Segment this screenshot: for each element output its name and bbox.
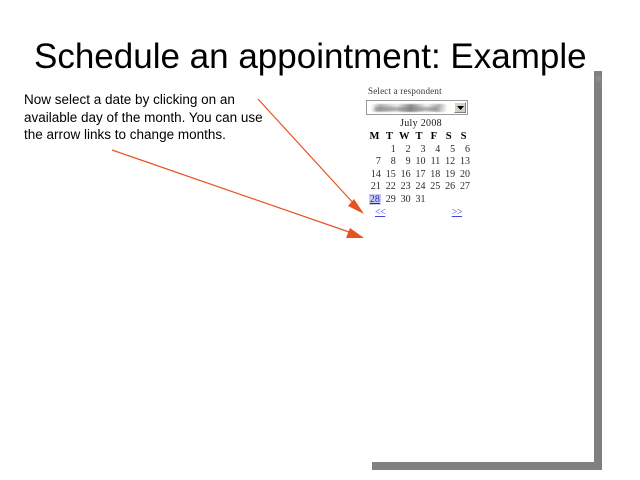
calendar-day: 7 (367, 156, 382, 169)
calendar-nav: << >> (367, 207, 471, 220)
calendar-weekday: S (441, 130, 456, 143)
calendar-day: 6 (456, 143, 471, 156)
page-title: Schedule an appointment: Example (34, 36, 614, 78)
calendar-day (456, 193, 471, 206)
calendar-weekday: S (456, 130, 471, 143)
calendar-day: 20 (456, 168, 471, 181)
respondent-select-value-blur (375, 107, 437, 111)
calendar-day: 29 (382, 193, 397, 206)
calendar-weekday: F (426, 130, 441, 143)
slide-shadow-right (594, 71, 602, 463)
calendar-day: 10 (412, 156, 427, 169)
select-respondent-label: Select a respondent (368, 86, 476, 96)
calendar-day-selected[interactable]: 28 (367, 193, 382, 206)
calendar-day (441, 193, 456, 206)
calendar-day: 22 (382, 181, 397, 194)
chevron-down-icon[interactable] (454, 102, 466, 113)
calendar-day: 15 (382, 168, 397, 181)
annotation-arrow-to-selected-day (258, 99, 364, 214)
respondent-select[interactable] (366, 100, 468, 115)
calendar-day: 16 (397, 168, 412, 181)
calendar-week-row: 7 8 9 10 11 12 13 (367, 156, 471, 169)
calendar-week-row: 28 29 30 31 (367, 193, 471, 206)
calendar-day: 26 (441, 181, 456, 194)
calendar-day: 11 (426, 156, 441, 169)
calendar-month-title: July 2008 (366, 118, 476, 129)
calendar-day (426, 193, 441, 206)
calendar-day: 2 (397, 143, 412, 156)
calendar-day: 31 (412, 193, 427, 206)
slide-canvas: Schedule an appointment: Example Now sel… (0, 0, 640, 480)
calendar-day: 1 (382, 143, 397, 156)
calendar-day: 13 (456, 156, 471, 169)
calendar-day: 27 (456, 181, 471, 194)
calendar-day: 18 (426, 168, 441, 181)
calendar-week-row: 1 2 3 4 5 6 (367, 143, 471, 156)
calendar-day: 14 (367, 168, 382, 181)
calendar-day: 3 (412, 143, 427, 156)
annotation-arrow-to-prev-link (112, 150, 364, 238)
calendar-day (367, 143, 382, 156)
slide-shadow-bottom (372, 462, 602, 470)
calendar-weekday: W (397, 130, 412, 143)
calendar-day: 12 (441, 156, 456, 169)
calendar-weekday: T (412, 130, 427, 143)
calendar-next-month-link[interactable]: >> (452, 207, 462, 218)
calendar-week-row: 21 22 23 24 25 26 27 (367, 181, 471, 194)
calendar-prev-month-link[interactable]: << (375, 207, 385, 218)
calendar-day: 4 (426, 143, 441, 156)
calendar-day: 30 (397, 193, 412, 206)
calendar-day-selected-link[interactable]: 28 (369, 194, 381, 205)
calendar-day: 24 (412, 181, 427, 194)
calendar-day: 17 (412, 168, 427, 181)
calendar-weekday: T (382, 130, 397, 143)
calendar-weekday-row: M T W T F S S (367, 130, 471, 143)
calendar-week-row: 14 15 16 17 18 19 20 (367, 168, 471, 181)
calendar-day: 8 (382, 156, 397, 169)
instruction-text: Now select a date by clicking on an avai… (24, 91, 266, 144)
calendar-day: 21 (367, 181, 382, 194)
calendar-weekday: M (367, 130, 382, 143)
calendar-day: 25 (426, 181, 441, 194)
calendar-day: 9 (397, 156, 412, 169)
respondent-calendar-widget: Select a respondent July 2008 M T W T F … (366, 86, 476, 220)
calendar-grid: M T W T F S S 1 2 3 4 5 6 (367, 130, 471, 206)
calendar-day: 19 (441, 168, 456, 181)
calendar-day: 23 (397, 181, 412, 194)
calendar-day: 5 (441, 143, 456, 156)
